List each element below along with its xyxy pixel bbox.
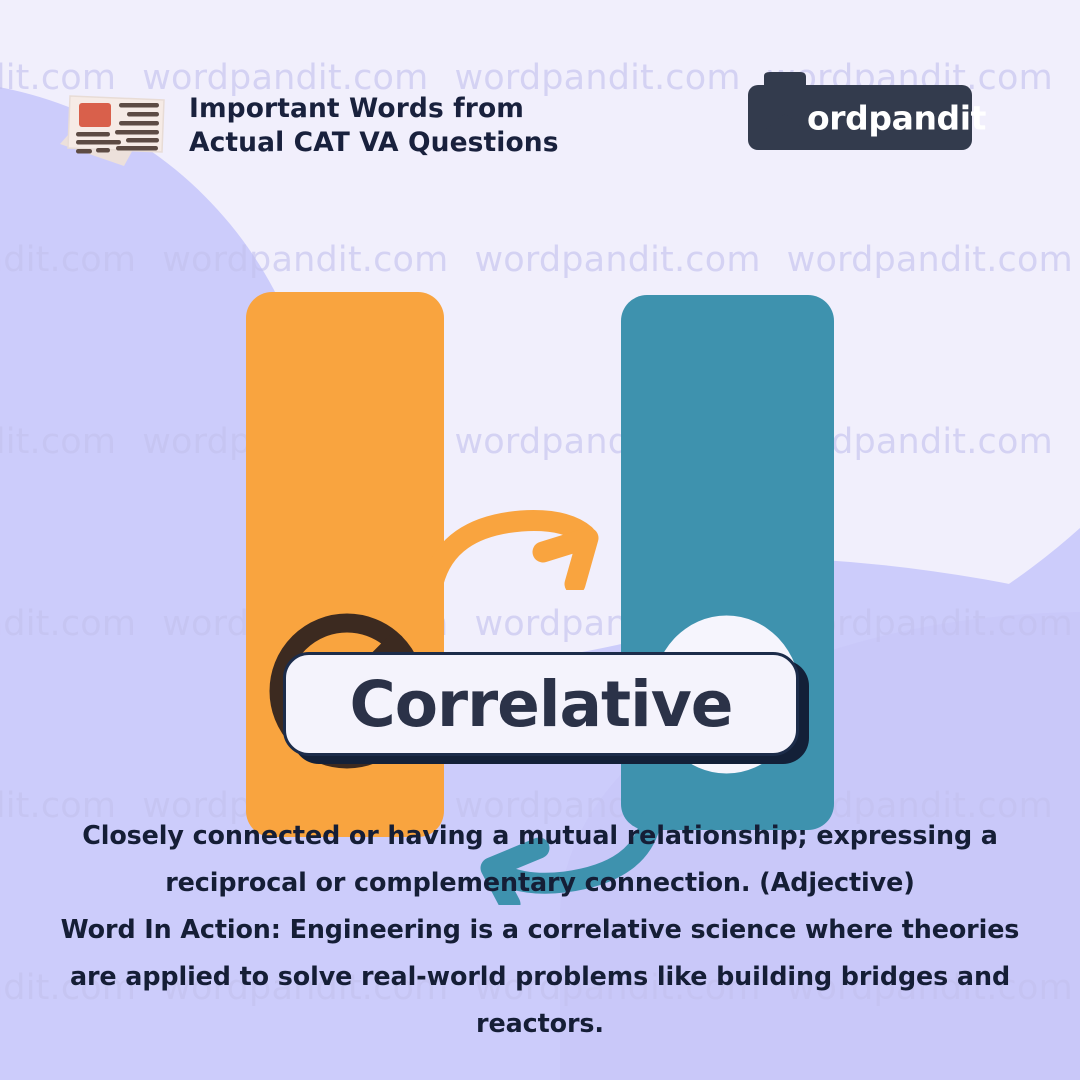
word-term: Correlative [350,668,733,741]
page-title-line-1: Important Words from [189,93,524,124]
word-card: wordpandit.comwordpandit.comwordpandit.c… [0,0,1080,1080]
page-title: Important Words from Actual CAT VA Quest… [189,92,559,160]
curved-arrow-right-icon [425,505,625,590]
header: Important Words from Actual CAT VA Quest… [0,0,1080,185]
illustration [0,255,1080,655]
logo-text: ordpandit [807,98,986,137]
word-pill-container: Correlative [0,652,1080,772]
bookmark-w-icon [759,72,806,134]
wordpandit-logo[interactable]: ordpandit [748,85,972,150]
definition-usage: Word In Action: Engineering is a correla… [52,906,1028,1047]
definition-block: Closely connected or having a mutual rel… [52,812,1028,1047]
definition-meaning: Closely connected or having a mutual rel… [52,812,1028,906]
word-pill[interactable]: Correlative [283,652,799,756]
page-title-line-2: Actual CAT VA Questions [189,126,559,160]
newspaper-icon [52,78,176,170]
